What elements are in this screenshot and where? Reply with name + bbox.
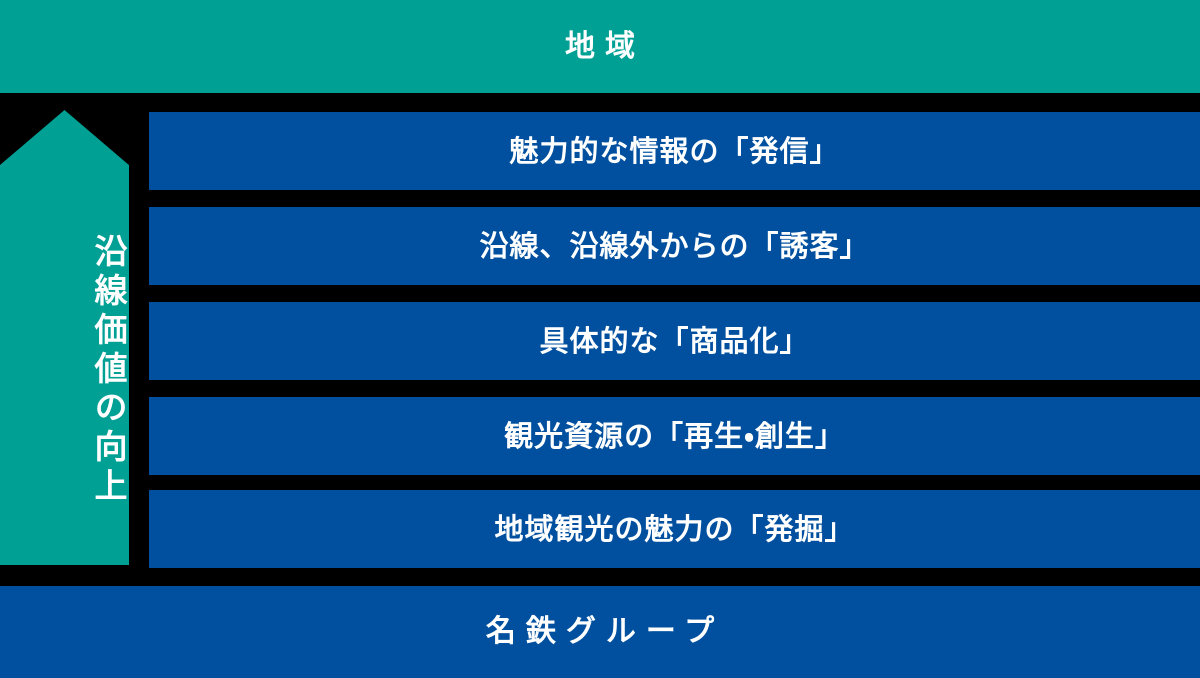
step-bar: 観光資源の「再生・創生」 <box>149 397 1200 475</box>
footer-band-company: 名鉄グループ <box>0 586 1200 678</box>
value-arrow-label: 沿線価値の向上 <box>0 180 129 560</box>
step-bar: 沿線、沿線外からの「誘客」 <box>149 207 1200 285</box>
diagram-canvas: 地域 沿線価値の向上 魅力的な情報の「発信」 沿線、沿線外からの「誘客」 具体的… <box>0 0 1200 678</box>
value-arrow: 沿線価値の向上 <box>0 110 129 565</box>
step-bar-label: 沿線、沿線外からの「誘客」 <box>479 232 869 261</box>
step-bar-label: 地域観光の魅力の「発掘」 <box>494 515 854 544</box>
step-bar: 地域観光の魅力の「発掘」 <box>149 490 1200 568</box>
step-bar-list: 魅力的な情報の「発信」 沿線、沿線外からの「誘客」 具体的な「商品化」 観光資源… <box>149 112 1200 568</box>
step-bar: 魅力的な情報の「発信」 <box>149 112 1200 190</box>
footer-title-label: 名鉄グループ <box>476 617 724 647</box>
step-bar: 具体的な「商品化」 <box>149 302 1200 380</box>
header-title-label: 地域 <box>555 32 645 62</box>
step-bar-label: 具体的な「商品化」 <box>539 327 809 356</box>
step-bar-label: 魅力的な情報の「発信」 <box>509 137 839 166</box>
step-bar-label: 観光資源の「再生・創生」 <box>504 422 845 451</box>
header-band-region: 地域 <box>0 0 1200 93</box>
